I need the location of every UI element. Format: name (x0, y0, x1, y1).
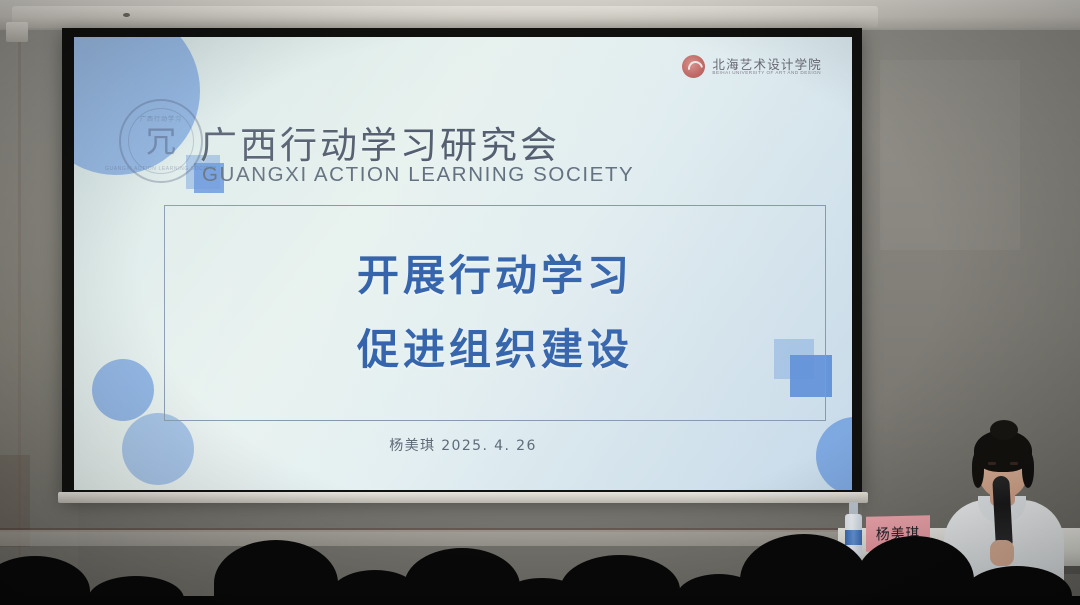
bottle-label (845, 530, 862, 545)
university-logo: 北海艺术设计学院 BEIHAI UNIVERSITY OF ART AND DE… (682, 55, 822, 78)
presenter-eye-right (1010, 462, 1018, 465)
projection-screen-bottom-bar (58, 492, 868, 503)
slide-header-title-en: GUANGXI ACTION LEARNING SOCIETY (202, 163, 634, 187)
organization-seal-icon: 广西行动学习 冗 GUANGXI ACTION LEARNING SOCIETY (119, 99, 203, 183)
wall-patch-right (880, 60, 1020, 250)
slide-main-line-1: 开展行动学习 (165, 242, 825, 303)
presenter-hair-right (1022, 452, 1034, 488)
presenter-hand (990, 540, 1014, 566)
slide-content-box: 开展行动学习 促进组织建设 (164, 205, 826, 421)
university-swirl-icon (682, 55, 705, 78)
university-name-en: BEIHAI UNIVERSITY OF ART AND DESIGN (712, 71, 822, 76)
university-logo-text: 北海艺术设计学院 BEIHAI UNIVERSITY OF ART AND DE… (712, 58, 822, 76)
slide-byline: 杨美琪 2025. 4. 26 (74, 435, 852, 455)
roller-end-cap (6, 22, 28, 42)
slide-header-title-cn: 广西行动学习研究会 (200, 115, 560, 169)
seal-center-glyph: 冗 (146, 128, 176, 158)
presenter-eye-left (988, 462, 996, 465)
university-name-cn: 北海艺术设计学院 (712, 58, 822, 71)
projection-screen: 广西行动学习 冗 GUANGXI ACTION LEARNING SOCIETY… (62, 28, 862, 498)
presenter-hair-bun (990, 420, 1018, 440)
audience-shoulders (0, 596, 1080, 605)
lecture-hall-scene: 广西行动学习 冗 GUANGXI ACTION LEARNING SOCIETY… (0, 0, 1080, 605)
bottle-cap (849, 502, 858, 514)
decor-circle-bottom-left-1 (92, 359, 154, 421)
front-desk-left (0, 530, 840, 546)
seal-top-text: 广西行动学习 (140, 114, 182, 123)
presenter-hair-left (972, 452, 984, 488)
microphone (992, 476, 1013, 547)
slide-main-line-2: 促进组织建设 (165, 316, 825, 377)
projector-screen-roller (12, 6, 878, 28)
roller-screw-icon (123, 13, 130, 17)
presentation-slide: 广西行动学习 冗 GUANGXI ACTION LEARNING SOCIETY… (74, 37, 852, 490)
